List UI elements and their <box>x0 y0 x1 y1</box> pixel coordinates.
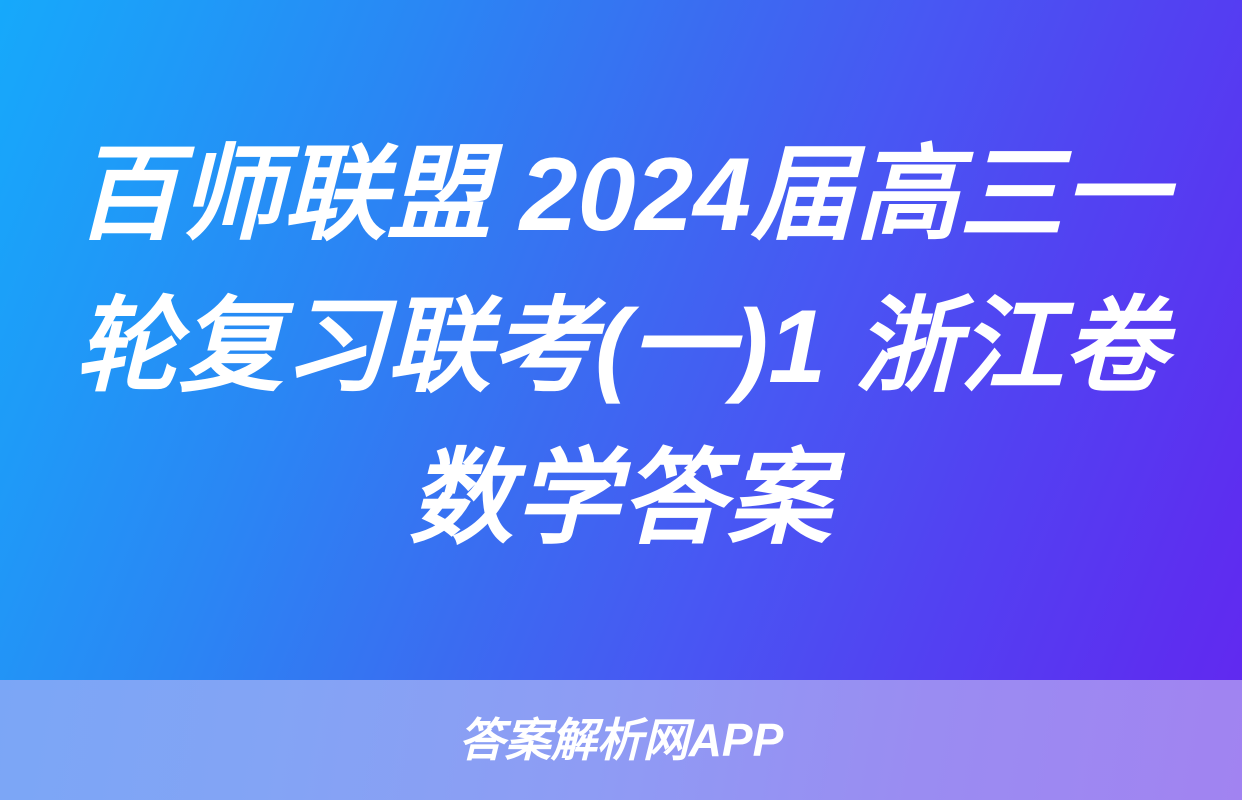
title-line-3: 数学答案 <box>0 423 1242 575</box>
title-line-1: 百师联盟 2024届高三一 <box>0 119 1242 271</box>
app-watermark-label: 答案解析网APP <box>459 714 784 766</box>
footer-band: 答案解析网APP <box>0 680 1242 800</box>
title-line-2: 轮复习联考(一)1 浙江卷 <box>0 271 1242 423</box>
title-card: 百师联盟 2024届高三一 轮复习联考(一)1 浙江卷 数学答案 答案解析网AP… <box>0 0 1242 800</box>
title-block: 百师联盟 2024届高三一 轮复习联考(一)1 浙江卷 数学答案 <box>0 0 1242 680</box>
